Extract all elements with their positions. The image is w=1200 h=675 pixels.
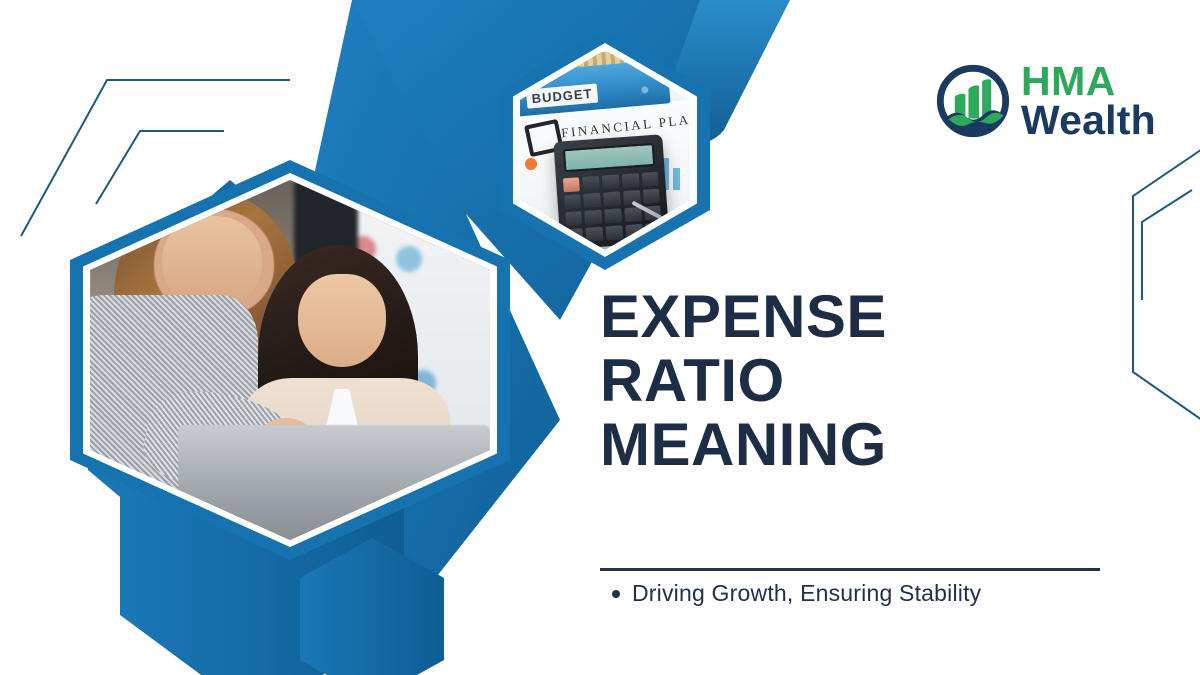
- hex-people-photo: [90, 180, 490, 540]
- hex-people-frame: [70, 160, 510, 560]
- binder-label: BUDGET: [526, 84, 599, 109]
- headline-line-2: RATIO: [600, 349, 1120, 413]
- calculator-illustration: [554, 134, 670, 249]
- promo-banner: BUDGET FINANCIAL PLAN: [0, 0, 1200, 675]
- logo-secondary-text: Wealth: [1021, 101, 1156, 140]
- title-divider: [600, 568, 1100, 571]
- logo-primary-text: HMA: [1021, 62, 1156, 101]
- finance-illustration: BUDGET FINANCIAL PLAN: [520, 50, 690, 250]
- headline-line-3: MEANING: [600, 413, 1120, 477]
- brand-logo[interactable]: HMA Wealth: [935, 62, 1156, 139]
- logo-wordmark: HMA Wealth: [1021, 62, 1156, 139]
- tagline: Driving Growth, Ensuring Stability: [612, 580, 981, 607]
- hexagon-outline-right-small: [1142, 190, 1192, 300]
- people-illustration: [90, 180, 490, 540]
- tagline-text: Driving Growth, Ensuring Stability: [632, 580, 981, 607]
- page-title: EXPENSE RATIO MEANING: [600, 285, 1120, 478]
- hex-finance-frame: BUDGET FINANCIAL PLAN: [500, 30, 710, 270]
- hex-finance-photo: BUDGET FINANCIAL PLAN: [520, 50, 690, 250]
- bullet-dot-icon: [612, 590, 620, 598]
- hexagon-outline-right-large: [1133, 120, 1200, 452]
- hma-wealth-emblem-icon: [935, 63, 1011, 139]
- headline-line-1: EXPENSE: [600, 285, 1120, 349]
